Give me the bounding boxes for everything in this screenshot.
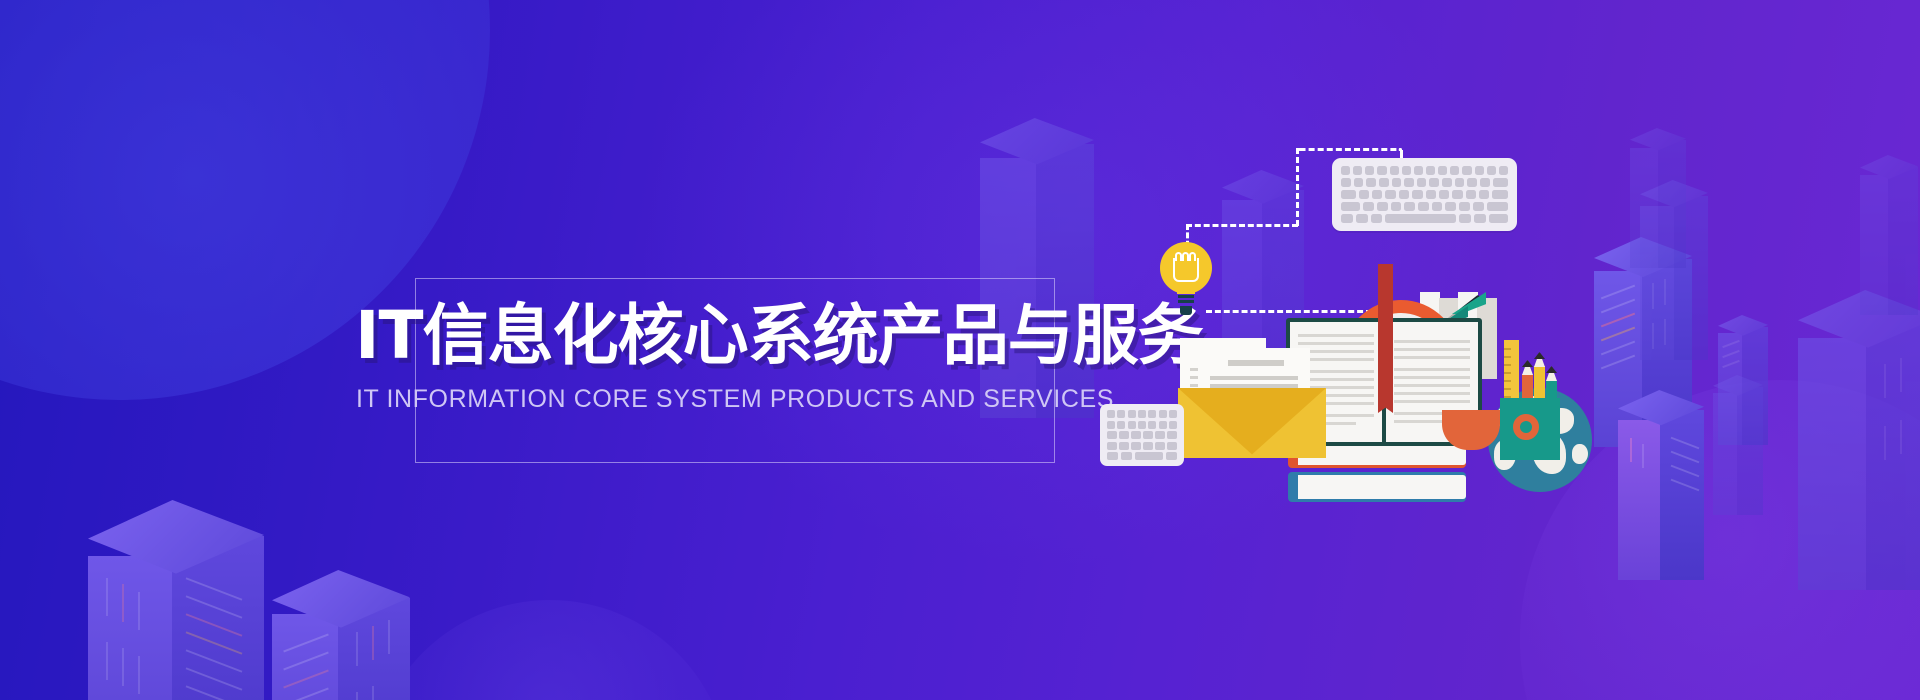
filament-loop-2 [1182, 252, 1189, 261]
pencil-lead [1534, 352, 1545, 359]
hero-illustration [1100, 120, 1570, 580]
book-text-line [1298, 342, 1374, 345]
book-pages [1298, 475, 1466, 499]
keyboard-row [1107, 442, 1177, 450]
coffee-cup-icon [1442, 410, 1500, 450]
ruler-tick [1504, 364, 1511, 366]
keyboard-row [1341, 202, 1508, 211]
ruler-tick [1504, 348, 1511, 350]
keyboard-icon [1332, 158, 1517, 231]
building-left-tall [88, 500, 288, 700]
keyboard-row [1341, 166, 1508, 175]
book-text-line [1394, 400, 1470, 403]
lightbulb-filament [1173, 258, 1199, 282]
filament-loop-1 [1175, 252, 1182, 261]
building-right-d [1713, 375, 1769, 515]
keyboard-row [1341, 178, 1508, 187]
pencil-lead [1546, 366, 1557, 373]
coffee-cup-group [1442, 410, 1522, 454]
building-right-large [1798, 290, 1920, 590]
building-right-b [1618, 390, 1718, 580]
report-heading [1228, 360, 1284, 366]
book-text-line [1394, 384, 1470, 387]
keyboard-row [1107, 410, 1177, 418]
building-left-short [272, 570, 432, 700]
book-text-line [1394, 348, 1470, 351]
building-right-f [1630, 128, 1694, 268]
title-block: IT信息化核心系统产品与服务 IT INFORMATION CORE SYSTE… [355, 300, 1115, 414]
keyboard-row [1341, 190, 1508, 199]
lightbulb-ring-2 [1178, 300, 1194, 303]
keyboard-row [1341, 214, 1508, 223]
lightbulb-base [1177, 288, 1195, 294]
book-text-line [1298, 334, 1374, 337]
report-line [1210, 376, 1298, 380]
lightbulb-icon [1160, 242, 1212, 318]
keyboard-row [1107, 421, 1177, 429]
building-window-lines [88, 500, 288, 700]
page-subtitle: IT INFORMATION CORE SYSTEM PRODUCTS AND … [355, 385, 1115, 414]
ruler-tick [1504, 372, 1511, 374]
envelope-group [1178, 364, 1330, 460]
filament-loop-3 [1189, 252, 1196, 261]
book-text-line [1394, 356, 1470, 359]
dashed-connector-top [1298, 148, 1402, 151]
book-text-line [1394, 392, 1470, 395]
book-text-line [1394, 368, 1470, 371]
ruler-tick [1504, 388, 1511, 390]
coffee-cup-handle [1513, 414, 1539, 440]
dashed-connector-vertical-mid [1296, 148, 1299, 226]
ruler-tick [1504, 356, 1511, 358]
lightbulb-screw [1180, 306, 1192, 315]
book-text-line [1394, 376, 1470, 379]
book-text-line [1394, 340, 1470, 343]
pencil-lead [1522, 360, 1533, 367]
keyboard-key [1341, 166, 1350, 175]
report-line [1210, 384, 1298, 388]
lightbulb-ring-1 [1178, 295, 1194, 298]
building-right-g [1860, 155, 1920, 315]
page-title: IT信息化核心系统产品与服务 [355, 300, 1115, 373]
ruler-tick [1504, 380, 1511, 382]
keyboard-small-icon [1100, 404, 1184, 466]
stacked-book-blue [1288, 472, 1466, 502]
keyboard-row [1107, 431, 1177, 439]
dashed-connector-mid [1186, 224, 1298, 227]
book-bookmark [1378, 264, 1393, 402]
keyboard-row [1107, 452, 1177, 460]
hero-banner: IT信息化核心系统产品与服务 IT INFORMATION CORE SYSTE… [0, 0, 1920, 700]
